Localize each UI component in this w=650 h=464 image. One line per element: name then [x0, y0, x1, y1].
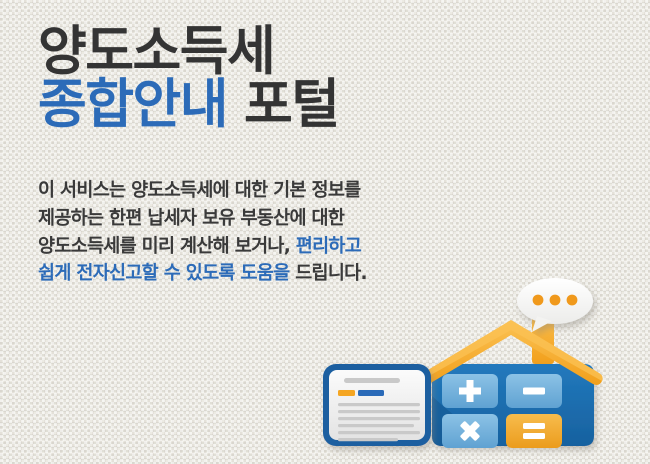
house-calculator-illustration: [318, 278, 608, 460]
doc-title-bar: [344, 378, 400, 383]
document-card: [323, 364, 431, 446]
calculator-key-plus[interactable]: [442, 374, 498, 408]
promo-banner: 양도소득세 종합안내 포털 이 서비스는 양도소득세에 대한 기본 정보를 제공…: [0, 0, 650, 464]
headline-line-1: 양도소득세: [38, 27, 339, 78]
headline-highlight: 종합안내: [38, 74, 227, 135]
bubble-dot-1: [533, 295, 544, 306]
calculator-key-minus[interactable]: [506, 374, 562, 408]
bubble-dot-3: [567, 295, 578, 306]
description-line-4: 쉽게 전자신고할 수 있도록 도움을 드립니다.: [38, 260, 598, 288]
description-line-4-plain: 드립니다.: [289, 263, 366, 284]
page-title: 양도소득세 종합안내 포털: [38, 27, 339, 131]
doc-tag-blue: [358, 390, 384, 396]
calculator-key-equals[interactable]: [506, 414, 562, 448]
description-line-3-highlight: 편리하고: [296, 236, 361, 257]
bubble-dot-2: [550, 295, 561, 306]
description-line-3-plain: 양도소득세를 미리 계산해 보거나,: [38, 236, 296, 257]
headline-suffix: 포털: [227, 74, 338, 135]
description-line-3: 양도소득세를 미리 계산해 보거나, 편리하고: [38, 233, 598, 261]
banner-description: 이 서비스는 양도소득세에 대한 기본 정보를 제공하는 한편 납세자 보유 부…: [38, 177, 598, 288]
calculator-key-multiply[interactable]: [442, 414, 498, 448]
headline-line-2: 종합안내 포털: [38, 80, 339, 131]
doc-tag-orange: [338, 390, 355, 396]
description-line-2: 제공하는 한편 납세자 보유 부동산에 대한: [38, 205, 598, 233]
description-line-1: 이 서비스는 양도소득세에 대한 기본 정보를: [38, 177, 598, 205]
description-line-4-highlight: 쉽게 전자신고할 수 있도록 도움을: [38, 263, 289, 284]
